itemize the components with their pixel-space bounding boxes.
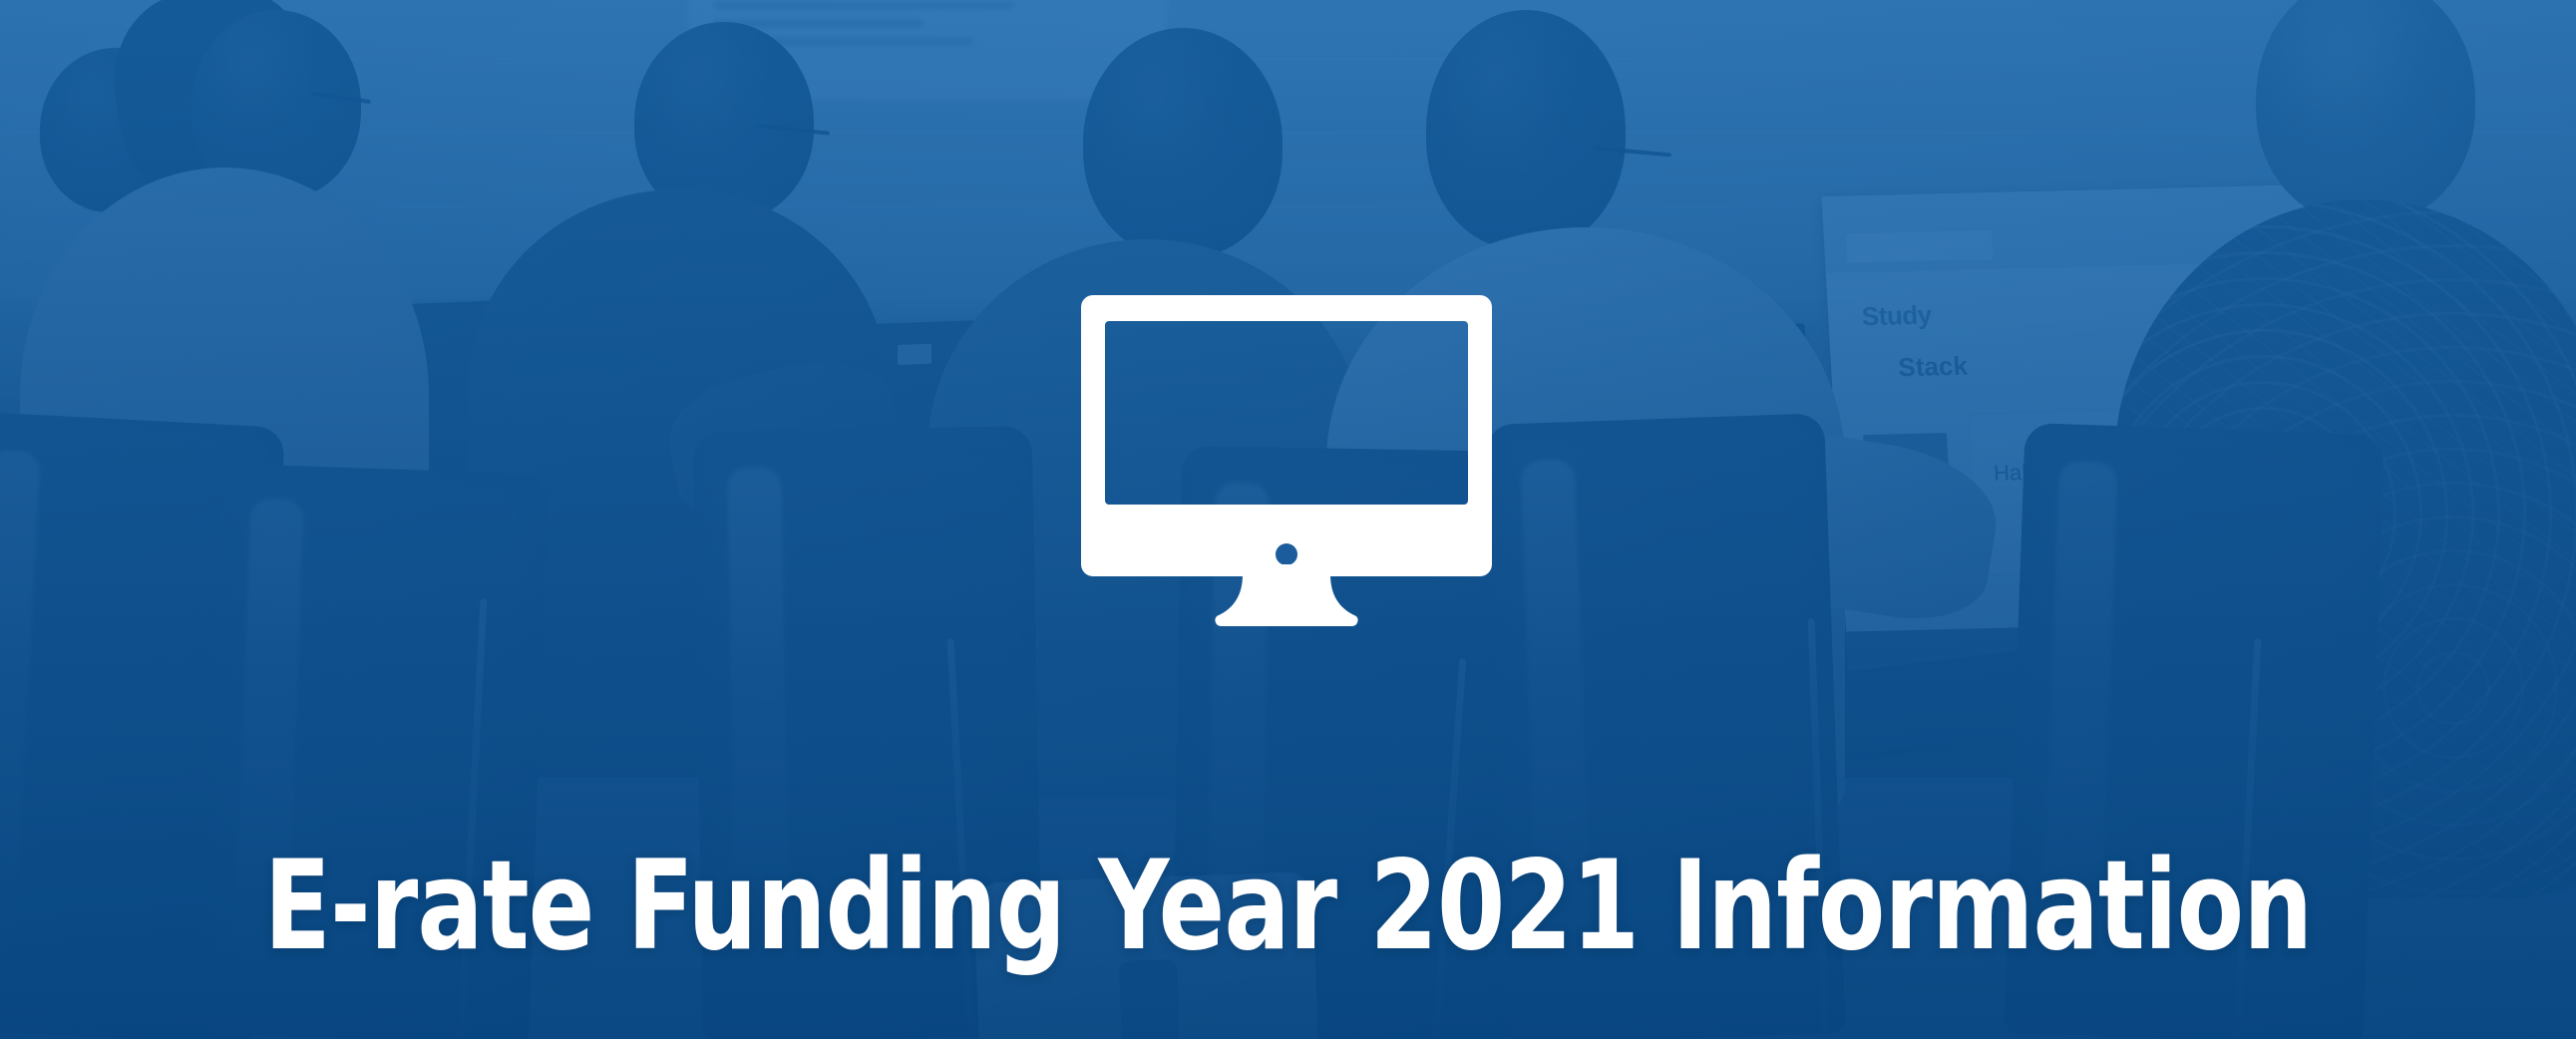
erate-hero-banner: Study Stack Habit <box>0 0 2576 1039</box>
page-title: E-rate Funding Year 2021 Information <box>155 845 2421 968</box>
desktop-monitor-icon <box>1081 295 1492 626</box>
